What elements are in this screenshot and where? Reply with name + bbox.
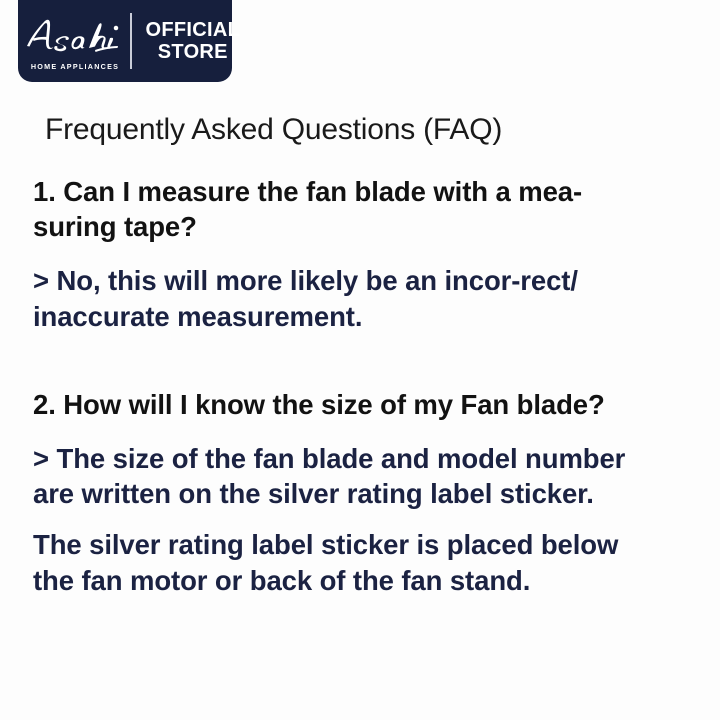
official-store-line-2: STORE bbox=[146, 41, 241, 63]
faq-question-2: 2. How will I know the size of my Fan bl… bbox=[33, 387, 649, 422]
asahi-wordmark-icon bbox=[22, 15, 128, 59]
faq-question-1: 1. Can I measure the fan blade with a me… bbox=[33, 174, 649, 244]
official-store-label: OFFICIAL STORE bbox=[146, 19, 241, 64]
faq-answer-2: > The size of the fan blade and model nu… bbox=[33, 441, 633, 511]
asahi-logo: HOME APPLIANCES bbox=[22, 11, 128, 70]
faq-item-2: 2. How will I know the size of my Fan bl… bbox=[33, 387, 683, 598]
note-spacer bbox=[33, 511, 683, 527]
page-title: Frequently Asked Questions (FAQ) bbox=[45, 112, 683, 148]
brand-divider bbox=[130, 13, 132, 69]
faq-note-2: The silver rating label sticker is place… bbox=[33, 527, 625, 597]
official-store-line-1: OFFICIAL bbox=[146, 19, 241, 41]
faq-item-1: 1. Can I measure the fan blade with a me… bbox=[33, 174, 683, 334]
brand-badge: HOME APPLIANCES OFFICIAL STORE bbox=[18, 0, 232, 82]
faq-content: Frequently Asked Questions (FAQ) 1. Can … bbox=[33, 112, 683, 598]
brand-tagline: HOME APPLIANCES bbox=[31, 63, 119, 70]
section-spacer bbox=[33, 334, 683, 387]
faq-answer-1: > No, this will more likely be an incor-… bbox=[33, 263, 633, 333]
